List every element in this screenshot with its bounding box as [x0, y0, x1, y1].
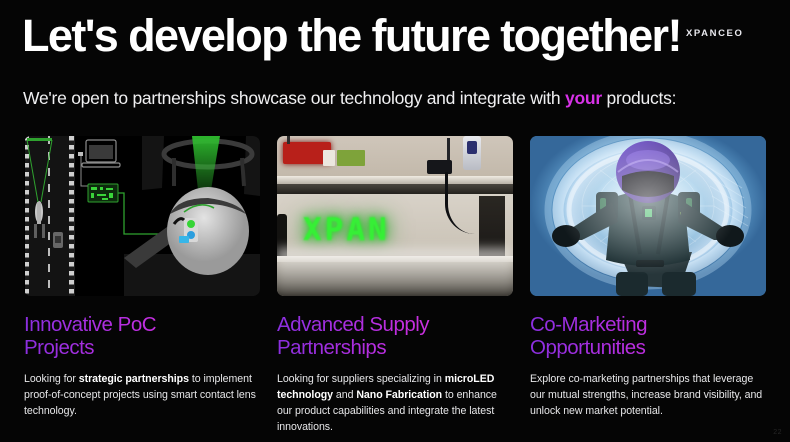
poc-technical-diagram [24, 136, 260, 296]
body-span: and [333, 389, 356, 401]
lab-green-box [337, 150, 365, 166]
xpanceo-logo: XPANCEO [686, 28, 743, 39]
microled-xpan-text: XPAN [303, 212, 473, 248]
column-heading: Advanced Supply Partnerships [277, 313, 513, 360]
column-poc: Innovative PoC Projects Looking for stra… [24, 136, 260, 419]
body-span: Looking for suppliers specializing in [277, 373, 445, 385]
body-span-strong: Nano Fabrication [356, 389, 442, 401]
lab-white-cup [323, 150, 335, 166]
column-body: Looking for strategic partnerships to im… [24, 371, 260, 419]
page-subtitle: We're open to partnerships showcase our … [23, 88, 676, 109]
columns-container: Innovative PoC Projects Looking for stra… [24, 136, 766, 426]
body-span-strong: strategic partnerships [79, 373, 189, 385]
lab-microled-photo: XPAN [277, 136, 513, 296]
column-heading: Co-Marketing Opportunities [530, 313, 766, 360]
subtitle-highlight: your [565, 88, 602, 108]
body-span: Looking for [24, 373, 79, 385]
column-body: Explore co-marketing partnerships that l… [530, 371, 766, 419]
column-body: Looking for suppliers specializing in mi… [277, 371, 513, 435]
skydiver-portal-photo [530, 136, 766, 296]
page-number: 22 [773, 429, 782, 436]
lab-foreground-blur [277, 248, 513, 296]
column-supply: XPAN Advanced Supply Partnerships Lookin… [277, 136, 513, 435]
column-heading: Innovative PoC Projects [24, 313, 260, 360]
slide-root: XPANCEO Let's develop the future togethe… [0, 0, 790, 442]
lab-dispenser [463, 136, 481, 170]
subtitle-text-before: We're open to partnerships showcase our … [23, 88, 565, 108]
body-span: Explore co-marketing partnerships that l… [530, 373, 762, 417]
poc-diagram-svg [24, 136, 260, 296]
subtitle-text-after: products: [602, 88, 676, 108]
sky-haze-overlay [530, 136, 766, 296]
page-title: Let's develop the future together! [22, 13, 681, 60]
column-comarketing: Co-Marketing Opportunities Explore co-ma… [530, 136, 766, 419]
